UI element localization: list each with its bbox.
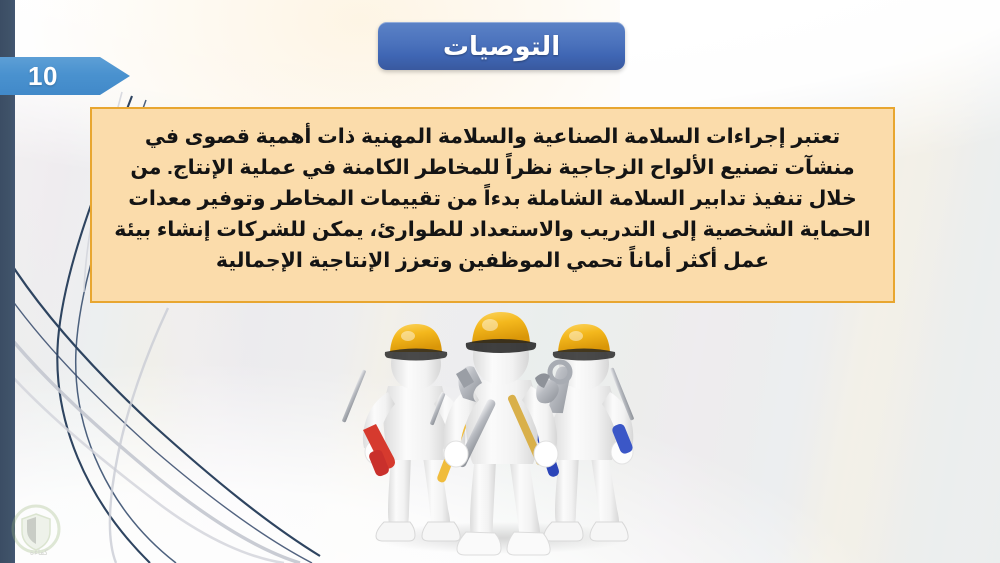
- watermark-logo-caption: كفاءة: [8, 548, 70, 557]
- slide-body-textbox: تعتبر إجراءات السلامة الصناعية والسلامة …: [90, 107, 895, 303]
- slide-body-text: تعتبر إجراءات السلامة الصناعية والسلامة …: [110, 121, 875, 276]
- watermark-logo: كفاءة: [8, 503, 70, 559]
- slide-number-badge-shape: [0, 57, 130, 95]
- workers-illustration: [332, 300, 672, 558]
- slide-title-banner: التوصيات: [378, 22, 625, 70]
- worker-center: [443, 312, 559, 555]
- slide-number-badge: 10: [0, 57, 130, 95]
- presentation-slide: 10 التوصيات تعتبر إجراءات السلامة الصناع…: [0, 0, 1000, 563]
- slide-title-text: التوصيات: [443, 33, 560, 59]
- slide-number-label: 10: [28, 57, 58, 95]
